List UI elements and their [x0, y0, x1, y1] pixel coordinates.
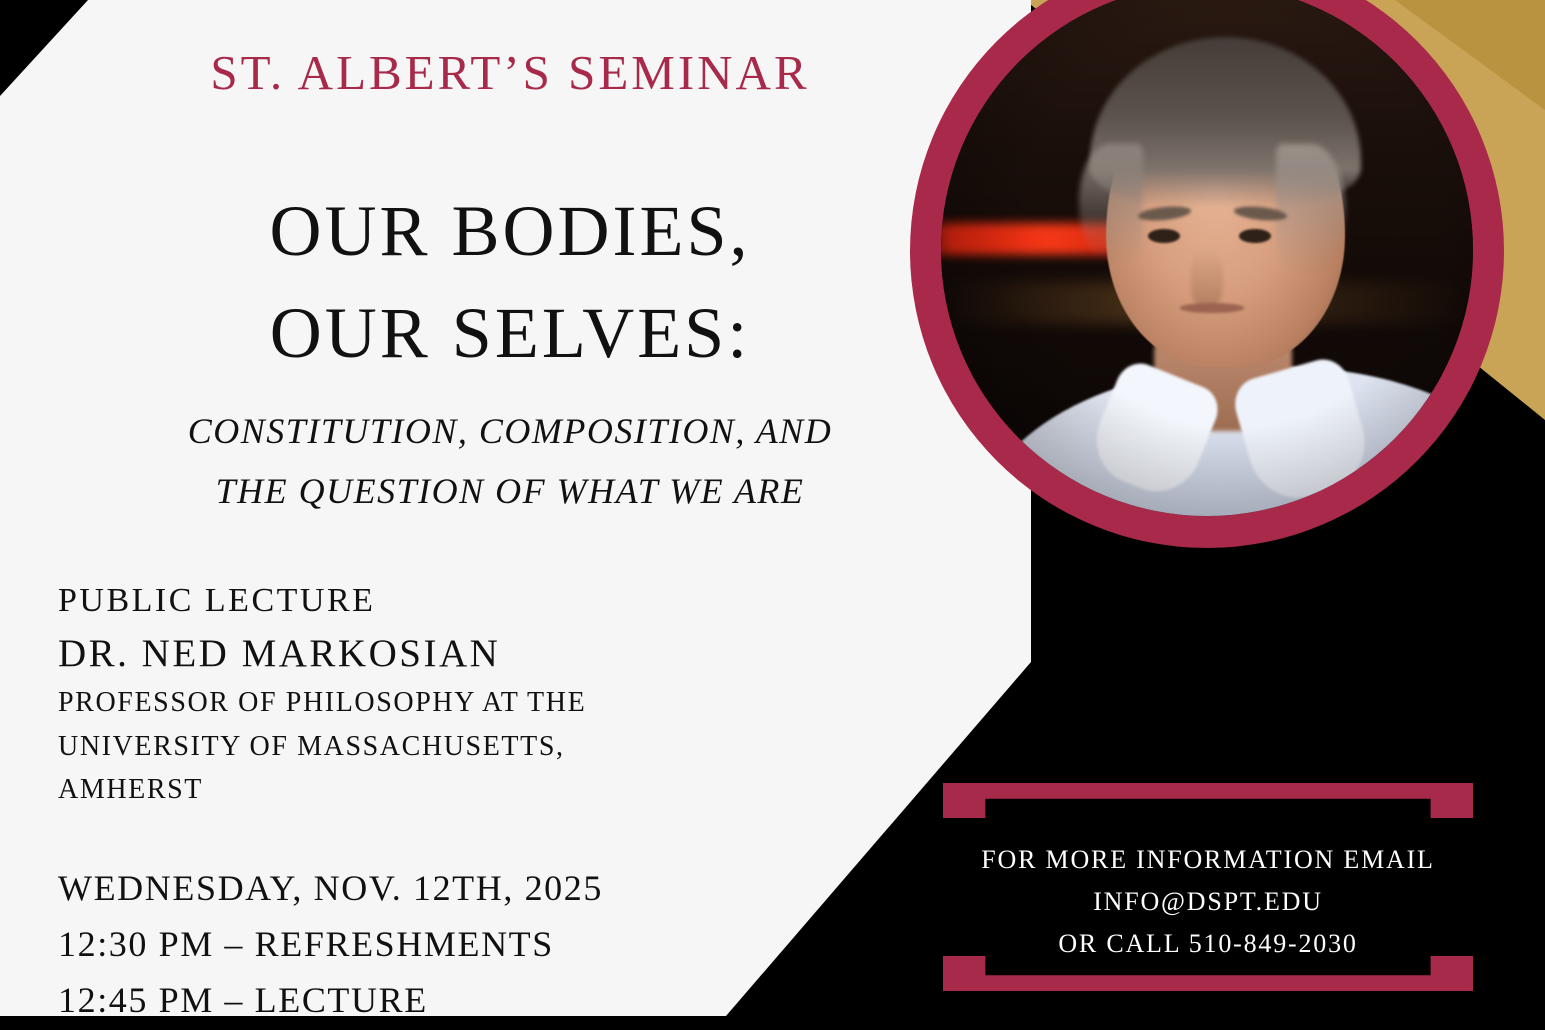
speaker-affiliation-line-2: UNIVERSITY OF MASSACHUSETTS, [58, 725, 738, 768]
contact-frame-top-bracket [943, 783, 1473, 818]
event-type-label: PUBLIC LECTURE [58, 575, 738, 626]
contact-phone[interactable]: OR CALL 510-849-2030 [943, 923, 1473, 965]
contact-text-block: FOR MORE INFORMATION EMAIL INFO@DSPT.EDU… [943, 839, 1473, 965]
schedule-block: WEDNESDAY, NOV. 12TH, 2025 12:30 PM – RE… [58, 860, 818, 1028]
title-line-1: OUR BODIES, [60, 180, 960, 282]
speaker-affiliation-line-3: AMHERST [58, 768, 738, 811]
subtitle-line-1: CONSTITUTION, COMPOSITION, AND [60, 402, 960, 461]
speaker-block: PUBLIC LECTURE DR. NED MARKOSIAN PROFESS… [58, 575, 738, 812]
contact-line-1: FOR MORE INFORMATION EMAIL [943, 839, 1473, 881]
headshot-vignette [941, 0, 1473, 516]
event-time-refreshments: 12:30 PM – REFRESHMENTS [58, 916, 818, 972]
seminar-poster: ST. ALBERT’S SEMINAR OUR BODIES, OUR SEL… [0, 0, 1545, 1030]
contact-email[interactable]: INFO@DSPT.EDU [943, 881, 1473, 923]
contact-frame: FOR MORE INFORMATION EMAIL INFO@DSPT.EDU… [943, 783, 1473, 991]
bottom-black-bar [0, 1016, 1545, 1030]
speaker-affiliation-line-1: PROFESSOR OF PHILOSOPHY AT THE [58, 681, 738, 724]
title-line-2: OUR SELVES: [60, 282, 960, 384]
speaker-headshot-image [941, 0, 1473, 516]
subtitle-line-2: THE QUESTION OF WHAT WE ARE [60, 462, 960, 521]
speaker-name: DR. NED MARKOSIAN [58, 626, 738, 681]
title-block: OUR BODIES, OUR SELVES: CONSTITUTION, CO… [60, 180, 960, 521]
series-title: ST. ALBERT’S SEMINAR [60, 44, 960, 101]
event-date: WEDNESDAY, NOV. 12TH, 2025 [58, 860, 818, 916]
